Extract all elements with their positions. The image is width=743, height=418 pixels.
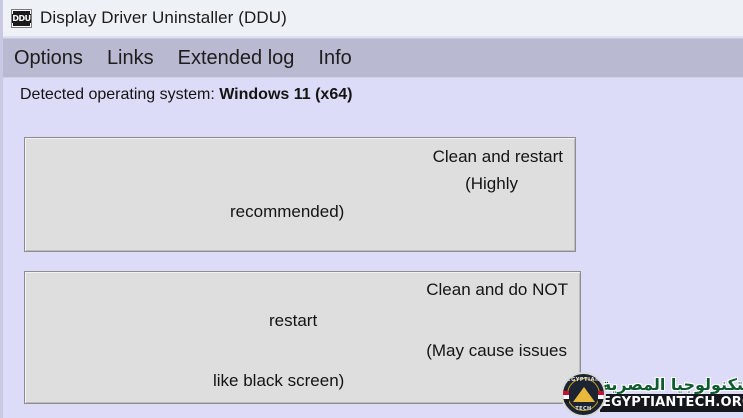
detected-os-line: Detected operating system: Windows 11 (x… <box>20 86 352 104</box>
ddu-app-icon: DDU <box>11 9 32 28</box>
menu-item-links[interactable]: Links <box>107 47 154 70</box>
egypt-flag-icon-left <box>562 391 569 403</box>
detected-os-value: Windows 11 (x64) <box>219 86 352 103</box>
clean-and-restart-button[interactable]: Clean and restart (Highly recommended) <box>24 137 576 252</box>
clean-and-do-not-restart-label-line-2: restart <box>269 311 317 331</box>
badge-bottom-text: TECH <box>563 406 604 412</box>
egypt-flag-icon-right <box>598 391 605 403</box>
menu-item-info[interactable]: Info <box>318 47 351 70</box>
detected-os-label: Detected operating system: <box>20 86 215 103</box>
window-title: Display Driver Uninstaller (DDU) <box>40 8 287 28</box>
watermark: EGYPTIAN TECH التكنولوجيا المصرية EGYPTI… <box>561 370 743 418</box>
ddu-application-window: DDU Display Driver Uninstaller (DDU) Opt… <box>0 0 743 418</box>
watermark-text-group: التكنولوجيا المصرية EGYPTIANTECH.ORG <box>600 376 743 412</box>
clean-and-do-not-restart-label-line-3: (May cause issues <box>426 341 567 361</box>
menu-bar: Options Links Extended log Info <box>3 38 743 78</box>
clean-and-restart-label-line-2: (Highly <box>465 174 518 194</box>
title-bar: DDU Display Driver Uninstaller (DDU) <box>3 0 743 37</box>
clean-and-do-not-restart-label-line-4: like black screen) <box>213 371 344 391</box>
egyptian-tech-logo-icon: EGYPTIAN TECH <box>561 372 606 417</box>
clean-and-do-not-restart-button[interactable]: Clean and do NOT restart (May cause issu… <box>24 271 581 404</box>
clean-and-restart-label-line-1: Clean and restart <box>433 147 563 167</box>
watermark-arabic-text: التكنولوجيا المصرية <box>600 376 743 394</box>
menu-item-extended-log[interactable]: Extended log <box>178 47 295 70</box>
app-icon-bottom-bar <box>13 23 30 26</box>
menu-item-options[interactable]: Options <box>14 47 83 70</box>
clean-and-restart-label-line-3: recommended) <box>230 202 344 222</box>
clean-and-do-not-restart-label-line-1: Clean and do NOT <box>426 280 568 300</box>
app-icon-letters: DDU <box>11 14 31 23</box>
pyramid-icon <box>573 387 595 402</box>
watermark-domain-text: EGYPTIANTECH.ORG <box>600 394 743 412</box>
badge-top-text: EGYPTIAN <box>563 377 604 383</box>
